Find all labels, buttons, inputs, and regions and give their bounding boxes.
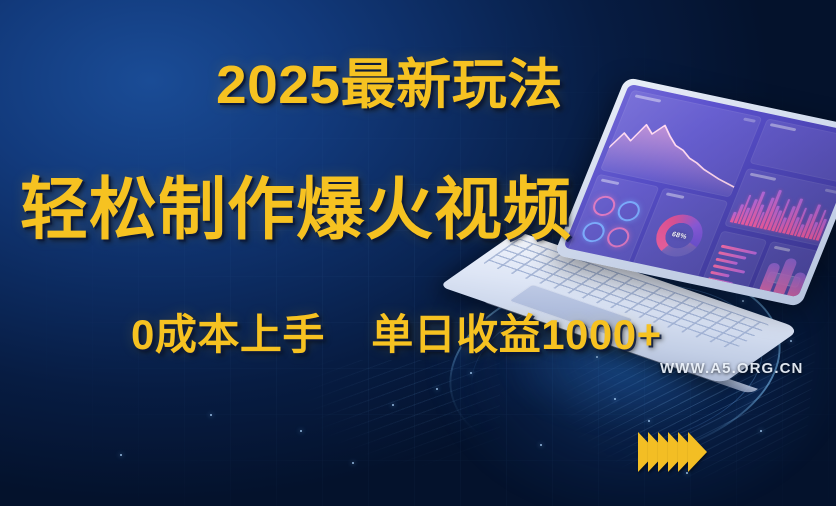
- background-particle: [614, 398, 616, 400]
- background-particle: [540, 444, 542, 446]
- bar-spectrum-bar: [775, 199, 791, 232]
- bar-spectrum-bar: [816, 219, 827, 241]
- list-lines: [705, 245, 757, 292]
- background-particle: [760, 430, 762, 432]
- list-line: [705, 284, 722, 290]
- background-particle: [648, 420, 650, 422]
- card-title-bar: [601, 179, 620, 186]
- bar-spectrum-bar: [805, 204, 821, 238]
- list-line: [707, 277, 733, 285]
- bar-spectrum-bar: [763, 190, 782, 230]
- bar-spectrum-bar: [786, 198, 803, 234]
- illustration-plate: [766, 271, 802, 288]
- bar-spectrum-bar: [771, 211, 782, 232]
- dashboard-area-chart-card: [600, 90, 763, 198]
- headline-line-3-left: 0成本上手: [131, 311, 325, 358]
- metric-ring-4: [604, 225, 633, 249]
- bar-spectrum-bar: [752, 204, 764, 227]
- chevron-arrow-group: [638, 432, 707, 472]
- headline-line-2: 轻松制作爆火视频: [20, 176, 572, 244]
- bar-spectrum-bar: [737, 194, 752, 224]
- list-line: [710, 271, 730, 278]
- metric-ring-2: [614, 199, 643, 223]
- donut-chart: [649, 210, 709, 260]
- list-line: [718, 251, 747, 260]
- background-particle: [352, 462, 354, 464]
- illustration-figure-3: [787, 272, 808, 298]
- metric-ring-3: [579, 220, 608, 244]
- bar-spectrum-bar: [741, 208, 751, 225]
- bar-spectrum-bar: [808, 222, 818, 239]
- dashboard-donut-chart-card: 68%: [631, 188, 728, 281]
- bar-spectrum: [730, 183, 835, 241]
- bar-spectrum-bar: [782, 206, 796, 233]
- dashboard-bar-spectrum-card: [724, 168, 836, 246]
- bar-spectrum-bar: [778, 218, 787, 233]
- card-title-bar: [750, 173, 777, 181]
- illustration-figure-1: [759, 262, 781, 292]
- background-particle: [120, 454, 122, 456]
- list-line: [715, 258, 738, 265]
- dashboard-ring-metrics-card: [566, 174, 659, 266]
- card-badge: [825, 189, 836, 194]
- headline-line-3-right: 单日收益1000+: [371, 311, 661, 358]
- headline-line-3: 0成本上手 单日收益1000+: [131, 314, 662, 356]
- background-particle: [392, 404, 394, 406]
- site-watermark: WWW.A5.ORG.CN: [660, 360, 803, 377]
- card-title-bar: [666, 192, 685, 199]
- illustration-figure-2: [773, 257, 798, 295]
- donut-center-label: 68%: [649, 210, 709, 260]
- background-particle: [210, 414, 212, 416]
- bar-spectrum-bar: [745, 199, 758, 225]
- bar-spectrum-bar: [734, 204, 744, 224]
- card-title-bar: [770, 123, 797, 131]
- background-particle: [436, 388, 438, 390]
- bar-spectrum-bar: [749, 191, 766, 226]
- dashboard-summary-card: [749, 118, 836, 183]
- bar-spectrum-bar: [812, 209, 827, 240]
- card-badge: [743, 117, 756, 122]
- chevron-right-icon: [688, 432, 707, 472]
- headline-line-1: 2025最新玩法: [216, 58, 563, 112]
- bar-spectrum-bar: [767, 205, 780, 230]
- area-chart-svg: [600, 105, 756, 198]
- bar-spectrum-bar: [793, 207, 807, 236]
- bar-spectrum-bar: [790, 217, 800, 236]
- laptop-screen: 68%: [563, 84, 836, 297]
- bar-spectrum-bar: [797, 224, 805, 237]
- illustration-graphic: [756, 247, 812, 297]
- background-particle: [686, 472, 688, 474]
- dashboard-list-card: [701, 230, 767, 291]
- bar-spectrum-bar: [756, 212, 765, 228]
- card-title-bar: [774, 246, 791, 252]
- background-particle: [300, 430, 302, 432]
- list-line: [713, 264, 745, 273]
- metric-ring-1: [590, 194, 619, 218]
- bar-spectrum-bar: [730, 212, 737, 223]
- list-line: [721, 245, 758, 255]
- card-title-bar: [635, 94, 662, 102]
- bar-spectrum-bar: [760, 197, 775, 228]
- dashboard-illustration-card: [751, 241, 819, 297]
- promo-poster: 68%: [0, 0, 836, 506]
- bar-spectrum-bar: [801, 214, 813, 238]
